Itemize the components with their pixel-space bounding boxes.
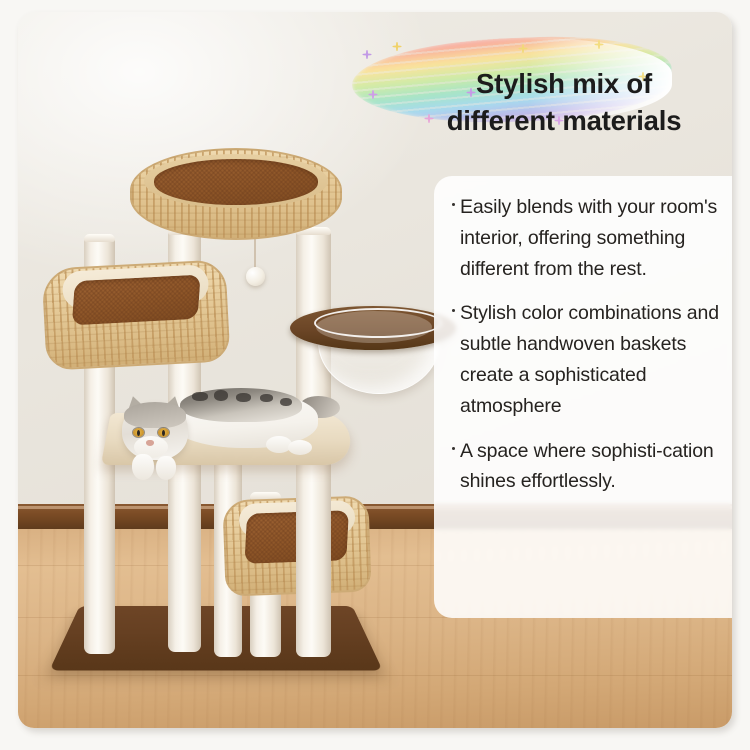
cat-head-markings	[124, 402, 186, 428]
sisal-mat	[154, 159, 318, 205]
cat-paw	[288, 440, 312, 455]
sparkle-icon	[594, 40, 603, 49]
mid-rattan-basket	[41, 259, 230, 370]
bullet-text: Stylish color combinations and subtle ha…	[460, 298, 726, 421]
bullet-dot-icon	[452, 447, 455, 450]
cat-pupil	[137, 430, 140, 436]
cat-paw	[156, 456, 176, 480]
cat-nose	[146, 440, 154, 446]
bullet-dot-icon	[452, 309, 455, 312]
sparkle-icon	[392, 42, 401, 51]
headline-line-2: different materials	[394, 103, 732, 140]
bullet-item: Stylish color combinations and subtle ha…	[452, 298, 726, 421]
sparkle-icon	[518, 44, 527, 53]
headline-block: Stylish mix of different materials	[338, 28, 730, 140]
product-infographic-card: Stylish mix of different materials Easil…	[18, 12, 732, 728]
bowl-rim-highlight	[314, 308, 442, 338]
bullet-text: A space where sophisti-cation shines eff…	[460, 436, 726, 498]
bullet-dot-icon	[452, 203, 455, 206]
cat-paw	[132, 454, 154, 480]
top-oval-rattan-basket	[130, 148, 342, 240]
pom-pom-toy	[246, 267, 265, 286]
bullet-item: Easily blends with your room's interior,…	[452, 192, 726, 284]
bullet-item: A space where sophisti-cation shines eff…	[452, 436, 726, 498]
feature-bullet-panel: Easily blends with your room's interior,…	[434, 176, 732, 618]
cat	[114, 384, 340, 480]
sisal-mat	[72, 275, 201, 326]
bullet-text: Easily blends with your room's interior,…	[460, 192, 726, 284]
cat-pupil	[162, 430, 165, 436]
sparkle-icon	[362, 50, 371, 59]
headline-line-1: Stylish mix of	[394, 66, 732, 103]
headline: Stylish mix of different materials	[394, 66, 732, 139]
infographic-page: Stylish mix of different materials Easil…	[0, 0, 750, 750]
sparkle-icon	[368, 90, 377, 99]
